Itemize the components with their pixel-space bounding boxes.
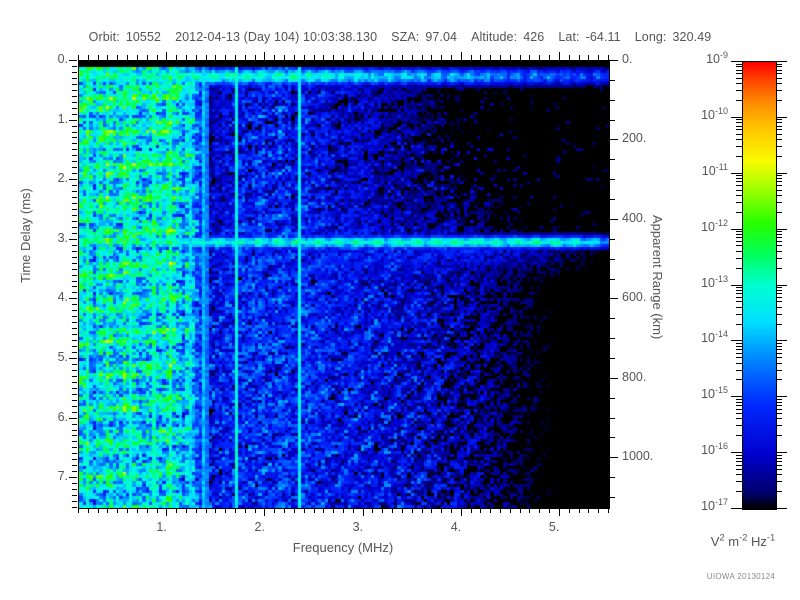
x-tick-minor bbox=[157, 508, 158, 513]
x-tick-minor bbox=[107, 508, 108, 513]
colorbar-tick-minor-left bbox=[736, 293, 742, 294]
x-tick-minor bbox=[608, 508, 609, 513]
y-tick-major-right bbox=[610, 60, 618, 61]
colorbar-tick-minor-left bbox=[736, 64, 742, 65]
y-tick-minor-left bbox=[72, 459, 77, 460]
x-tick-minor-top bbox=[500, 55, 501, 60]
y-tick-minor-right bbox=[610, 418, 615, 419]
y-tick-minor-left bbox=[72, 322, 77, 323]
y-tick-label-right: 200. bbox=[622, 131, 646, 145]
x-tick-minor-top bbox=[304, 55, 305, 60]
y-tick-minor-left bbox=[72, 489, 77, 490]
y-tick-minor-right bbox=[610, 239, 615, 240]
y-tick-major-right bbox=[610, 219, 618, 220]
x-tick-minor-top bbox=[372, 55, 373, 60]
x-tick-minor bbox=[98, 508, 99, 513]
colorbar-tick-minor-left bbox=[736, 455, 742, 456]
y-tick-minor-left bbox=[72, 209, 77, 210]
colorbar-tick-minor-right bbox=[776, 231, 782, 232]
colorbar-tick-label: 10-10 bbox=[680, 108, 728, 122]
colorbar-tick-minor-right bbox=[776, 324, 782, 325]
colorbar-tick-label: 10-12 bbox=[680, 220, 728, 234]
x-tick-minor-top bbox=[441, 55, 442, 60]
colorbar-tick-minor-left bbox=[736, 314, 742, 315]
y-tick-minor-left bbox=[72, 292, 77, 293]
x-tick-major-top bbox=[461, 52, 462, 60]
colorbar-tick-minor-right bbox=[776, 405, 782, 406]
x-tick-minor bbox=[78, 508, 79, 513]
x-tick-minor bbox=[510, 508, 511, 513]
colorbar-tick-minor-left bbox=[736, 212, 742, 213]
y-tick-minor-left bbox=[72, 495, 77, 496]
x-tick-minor-top bbox=[510, 55, 511, 60]
colorbar-tick-minor-left bbox=[736, 237, 742, 238]
x-tick-minor-top bbox=[422, 55, 423, 60]
y-tick-minor-right bbox=[610, 279, 615, 280]
colorbar-tick-major-left bbox=[731, 285, 742, 286]
y-tick-major-left bbox=[69, 239, 77, 240]
y-tick-major-left bbox=[69, 60, 77, 61]
x-tick-minor bbox=[539, 508, 540, 513]
y-tick-minor-right bbox=[610, 259, 615, 260]
colorbar-gradient bbox=[743, 62, 776, 509]
colorbar-tick-minor-right bbox=[776, 363, 782, 364]
colorbar-tick-label: 10-9 bbox=[680, 52, 728, 66]
y-tick-major-left bbox=[69, 298, 77, 299]
colorbar-tick-minor-left bbox=[736, 190, 742, 191]
x-tick-minor bbox=[333, 508, 334, 513]
colorbar-tick-major-right bbox=[776, 61, 787, 62]
y-tick-minor-left bbox=[72, 406, 77, 407]
x-tick-major bbox=[461, 508, 462, 516]
y-tick-minor-left bbox=[72, 227, 77, 228]
colorbar-tick-minor-right bbox=[776, 258, 782, 259]
lat-label: Lat: bbox=[558, 30, 579, 44]
y-tick-minor-left bbox=[72, 328, 77, 329]
x-tick-minor-top bbox=[196, 55, 197, 60]
x-tick-minor-top bbox=[392, 55, 393, 60]
colorbar-tick-minor-right bbox=[776, 353, 782, 354]
y-tick-minor-left bbox=[72, 471, 77, 472]
x-tick-minor-top bbox=[78, 55, 79, 60]
y-tick-minor-left bbox=[72, 132, 77, 133]
ionogram-plot-area bbox=[78, 60, 610, 509]
altitude-label: Altitude: bbox=[471, 30, 517, 44]
colorbar-tick-minor-left bbox=[736, 70, 742, 71]
colorbar-tick-minor-right bbox=[776, 481, 782, 482]
colorbar-tick-minor-left bbox=[736, 73, 742, 74]
y-tick-minor-left bbox=[72, 465, 77, 466]
colorbar-tick-minor-right bbox=[776, 418, 782, 419]
credit-label: UIOWA 20130124 bbox=[686, 572, 796, 581]
colorbar-tick-minor-right bbox=[776, 301, 782, 302]
y-tick-minor-left bbox=[72, 424, 77, 425]
x-tick-minor-top bbox=[382, 55, 383, 60]
colorbar-tick-minor-left bbox=[736, 185, 742, 186]
colorbar-tick-minor-right bbox=[776, 357, 782, 358]
colorbar-tick-major-left bbox=[731, 229, 742, 230]
colorbar-unit-label: V2 m-2 Hz-1 bbox=[686, 534, 800, 549]
y-tick-minor-left bbox=[72, 388, 77, 389]
x-tick-minor bbox=[215, 508, 216, 513]
y-tick-minor-left bbox=[72, 137, 77, 138]
y-tick-minor-right bbox=[610, 477, 615, 478]
colorbar-tick-minor-right bbox=[776, 314, 782, 315]
y-tick-minor-left bbox=[72, 483, 77, 484]
x-tick-minor-top bbox=[480, 55, 481, 60]
y-tick-minor-left bbox=[72, 501, 77, 502]
x-tick-minor bbox=[529, 508, 530, 513]
y-tick-minor-left bbox=[72, 304, 77, 305]
y-tick-minor-left bbox=[72, 167, 77, 168]
colorbar-tick-minor-left bbox=[736, 402, 742, 403]
sza-value: 97.04 bbox=[425, 30, 457, 44]
x-tick-minor-top bbox=[539, 55, 540, 60]
x-tick-minor bbox=[490, 508, 491, 513]
x-tick-minor bbox=[274, 508, 275, 513]
orbit-label: Orbit: bbox=[89, 30, 120, 44]
colorbar-tick-minor-left bbox=[736, 129, 742, 130]
x-tick-minor bbox=[323, 508, 324, 513]
colorbar-tick-minor-left bbox=[736, 469, 742, 470]
colorbar-tick-minor-left bbox=[736, 363, 742, 364]
x-tick-minor bbox=[225, 508, 226, 513]
colorbar-tick-minor-left bbox=[736, 202, 742, 203]
colorbar-tick-major-left bbox=[731, 117, 742, 118]
x-tick-major-top bbox=[363, 52, 364, 60]
colorbar-tick-minor-right bbox=[776, 474, 782, 475]
y-tick-minor-left bbox=[72, 126, 77, 127]
x-tick-label: 2. bbox=[254, 520, 264, 534]
colorbar-tick-minor-right bbox=[776, 139, 782, 140]
colorbar-tick-label: 10-15 bbox=[680, 387, 728, 401]
colorbar-tick-minor-right bbox=[776, 129, 782, 130]
x-tick-minor-top bbox=[235, 55, 236, 60]
colorbar-tick-minor-left bbox=[736, 349, 742, 350]
x-tick-minor-top bbox=[88, 55, 89, 60]
colorbar-tick-minor-right bbox=[776, 343, 782, 344]
colorbar-tick-minor-left bbox=[736, 90, 742, 91]
colorbar-tick-minor-left bbox=[736, 399, 742, 400]
colorbar-tick-minor-right bbox=[776, 268, 782, 269]
colorbar-tick-label: 10-14 bbox=[680, 331, 728, 345]
y-tick-major-right bbox=[610, 457, 618, 458]
y-tick-minor-left bbox=[72, 90, 77, 91]
x-tick-label: 5. bbox=[549, 520, 559, 534]
spectrogram-heatmap bbox=[79, 61, 609, 508]
colorbar-tick-minor-left bbox=[736, 251, 742, 252]
colorbar-tick-minor-left bbox=[736, 458, 742, 459]
y-tick-minor-left bbox=[72, 72, 77, 73]
x-tick-minor-top bbox=[127, 55, 128, 60]
x-tick-minor-top bbox=[579, 55, 580, 60]
colorbar-tick-minor-left bbox=[736, 357, 742, 358]
x-tick-minor-top bbox=[314, 55, 315, 60]
colorbar-tick-minor-left bbox=[736, 178, 742, 179]
colorbar-tick-label: 10-16 bbox=[680, 443, 728, 457]
y-tick-minor-left bbox=[72, 197, 77, 198]
y-tick-minor-left bbox=[72, 334, 77, 335]
colorbar-tick-minor-right bbox=[776, 185, 782, 186]
colorbar-tick-minor-left bbox=[736, 418, 742, 419]
x-tick-minor bbox=[314, 508, 315, 513]
x-tick-minor bbox=[598, 508, 599, 513]
x-tick-minor-top bbox=[274, 55, 275, 60]
colorbar-tick-minor-left bbox=[736, 461, 742, 462]
colorbar-tick-minor-left bbox=[736, 126, 742, 127]
x-tick-minor-top bbox=[176, 55, 177, 60]
y-tick-minor-right bbox=[610, 159, 615, 160]
colorbar-tick-minor-left bbox=[736, 287, 742, 288]
y-tick-minor-left bbox=[72, 245, 77, 246]
colorbar-tick-minor-right bbox=[776, 202, 782, 203]
y-tick-label-left: 7. bbox=[36, 469, 68, 483]
header-info-line: Orbit: 10552 2012-04-13 (Day 104) 10:03:… bbox=[0, 30, 800, 44]
x-tick-minor bbox=[471, 508, 472, 513]
x-tick-minor bbox=[245, 508, 246, 513]
y-tick-minor-left bbox=[72, 251, 77, 252]
y-tick-label-right: 1000. bbox=[622, 449, 653, 463]
colorbar-tick-major-left bbox=[731, 452, 742, 453]
colorbar-tick-minor-right bbox=[776, 146, 782, 147]
altitude-value: 426 bbox=[523, 30, 544, 44]
y-tick-label-right: 0. bbox=[622, 52, 632, 66]
x-tick-minor-top bbox=[343, 55, 344, 60]
colorbar-tick-minor-right bbox=[776, 64, 782, 65]
colorbar-tick-minor-right bbox=[776, 287, 782, 288]
x-tick-minor bbox=[117, 508, 118, 513]
colorbar-tick-minor-left bbox=[736, 413, 742, 414]
y-tick-minor-left bbox=[72, 453, 77, 454]
y-tick-minor-right bbox=[610, 80, 615, 81]
long-value: 320.49 bbox=[673, 30, 712, 44]
colorbar-tick-minor-right bbox=[776, 190, 782, 191]
x-tick-minor bbox=[431, 508, 432, 513]
x-tick-minor-top bbox=[323, 55, 324, 60]
y-tick-minor-left bbox=[72, 96, 77, 97]
colorbar-tick-minor-right bbox=[776, 297, 782, 298]
y-tick-minor-left bbox=[72, 441, 77, 442]
colorbar-tick-minor-right bbox=[776, 195, 782, 196]
colorbar-tick-minor-right bbox=[776, 212, 782, 213]
y-tick-label-left: 0. bbox=[36, 52, 68, 66]
colorbar-tick-minor-left bbox=[736, 119, 742, 120]
colorbar-tick-minor-right bbox=[776, 78, 782, 79]
y-tick-minor-left bbox=[72, 430, 77, 431]
x-tick-minor bbox=[480, 508, 481, 513]
x-tick-major bbox=[363, 508, 364, 516]
colorbar-tick-minor-right bbox=[776, 119, 782, 120]
x-tick-label: 3. bbox=[353, 520, 363, 534]
x-tick-minor-top bbox=[107, 55, 108, 60]
colorbar-tick-minor-right bbox=[776, 234, 782, 235]
colorbar-tick-minor-right bbox=[776, 70, 782, 71]
x-tick-minor-top bbox=[412, 55, 413, 60]
colorbar-tick-minor-right bbox=[776, 491, 782, 492]
colorbar-tick-minor-right bbox=[776, 181, 782, 182]
colorbar-tick-minor-right bbox=[776, 379, 782, 380]
x-tick-minor bbox=[500, 508, 501, 513]
colorbar-tick-minor-left bbox=[736, 181, 742, 182]
x-tick-minor-top bbox=[98, 55, 99, 60]
y-tick-minor-left bbox=[72, 114, 77, 115]
x-tick-major-top bbox=[264, 52, 265, 60]
x-tick-minor bbox=[255, 508, 256, 513]
colorbar-tick-minor-left bbox=[736, 353, 742, 354]
y-tick-minor-left bbox=[72, 376, 77, 377]
colorbar-tick-label: 10-11 bbox=[680, 164, 728, 178]
colorbar-tick-minor-right bbox=[776, 134, 782, 135]
x-tick-minor-top bbox=[117, 55, 118, 60]
colorbar-tick-minor-left bbox=[736, 156, 742, 157]
colorbar-tick-label: 10-17 bbox=[680, 499, 728, 513]
x-tick-major bbox=[559, 508, 560, 516]
colorbar-tick-minor-right bbox=[776, 175, 782, 176]
y-tick-minor-left bbox=[72, 185, 77, 186]
observation-datetime: 2012-04-13 (Day 104) 10:03:38.130 bbox=[175, 30, 377, 44]
colorbar-tick-minor-right bbox=[776, 156, 782, 157]
x-tick-minor bbox=[284, 508, 285, 513]
y-tick-minor-left bbox=[72, 215, 77, 216]
x-tick-minor bbox=[392, 508, 393, 513]
colorbar-tick-minor-right bbox=[776, 461, 782, 462]
y-tick-minor-left bbox=[72, 102, 77, 103]
colorbar-tick-minor-right bbox=[776, 100, 782, 101]
colorbar-tick-minor-right bbox=[776, 425, 782, 426]
y-tick-minor-left bbox=[72, 316, 77, 317]
y-tick-major-left bbox=[69, 120, 77, 121]
y-tick-minor-left bbox=[72, 161, 77, 162]
y-tick-minor-right bbox=[610, 338, 615, 339]
x-tick-minor bbox=[186, 508, 187, 513]
colorbar-tick-minor-left bbox=[736, 343, 742, 344]
y-tick-minor-left bbox=[72, 78, 77, 79]
y-tick-minor-left bbox=[72, 275, 77, 276]
colorbar-tick-major-right bbox=[776, 340, 787, 341]
y-tick-minor-right bbox=[610, 437, 615, 438]
x-tick-minor bbox=[176, 508, 177, 513]
colorbar-tick-major-right bbox=[776, 285, 787, 286]
sza-label: SZA: bbox=[391, 30, 419, 44]
colorbar-tick-minor-left bbox=[736, 474, 742, 475]
y-tick-minor-right bbox=[610, 398, 615, 399]
colorbar-tick-minor-left bbox=[736, 290, 742, 291]
colorbar-tick-minor-right bbox=[776, 178, 782, 179]
y-tick-major-left bbox=[69, 477, 77, 478]
colorbar-tick-minor-left bbox=[736, 258, 742, 259]
y-tick-minor-left bbox=[72, 364, 77, 365]
y-tick-label-left: 2. bbox=[36, 171, 68, 185]
y-tick-minor-left bbox=[72, 412, 77, 413]
y-tick-minor-left bbox=[72, 149, 77, 150]
colorbar-tick-minor-right bbox=[776, 90, 782, 91]
y-tick-minor-left bbox=[72, 394, 77, 395]
y-tick-minor-left bbox=[72, 382, 77, 383]
colorbar-tick-minor-left bbox=[736, 100, 742, 101]
x-tick-minor-top bbox=[333, 55, 334, 60]
x-tick-minor bbox=[88, 508, 89, 513]
colorbar-tick-minor-right bbox=[776, 73, 782, 74]
x-tick-minor bbox=[588, 508, 589, 513]
y-tick-major-left bbox=[69, 418, 77, 419]
y-tick-label-right: 800. bbox=[622, 370, 646, 384]
colorbar-tick-minor-left bbox=[736, 134, 742, 135]
colorbar-tick-minor-left bbox=[736, 307, 742, 308]
y-tick-label-right: 400. bbox=[622, 211, 646, 225]
colorbar-tick-minor-right bbox=[776, 435, 782, 436]
y-tick-minor-left bbox=[72, 507, 77, 508]
colorbar-tick-minor-right bbox=[776, 370, 782, 371]
y-tick-minor-left bbox=[72, 286, 77, 287]
y-tick-minor-left bbox=[72, 203, 77, 204]
x-tick-minor-top bbox=[588, 55, 589, 60]
colorbar-tick-minor-right bbox=[776, 469, 782, 470]
colorbar-tick-minor-left bbox=[736, 346, 742, 347]
x-tick-label: 1. bbox=[156, 520, 166, 534]
colorbar-tick-major-left bbox=[731, 173, 742, 174]
colorbar-tick-minor-left bbox=[736, 465, 742, 466]
y-tick-minor-left bbox=[72, 447, 77, 448]
x-tick-minor-top bbox=[520, 55, 521, 60]
colorbar-tick-minor-left bbox=[736, 379, 742, 380]
x-tick-minor-top bbox=[353, 55, 354, 60]
x-tick-minor-top bbox=[471, 55, 472, 60]
x-tick-minor-top bbox=[225, 55, 226, 60]
colorbar-tick-major-right bbox=[776, 117, 787, 118]
colorbar-tick-minor-right bbox=[776, 399, 782, 400]
x-tick-minor bbox=[235, 508, 236, 513]
y-tick-minor-left bbox=[72, 269, 77, 270]
y-tick-major-right bbox=[610, 139, 618, 140]
x-tick-minor-top bbox=[294, 55, 295, 60]
y-tick-minor-left bbox=[72, 143, 77, 144]
colorbar-tick-major-right bbox=[776, 396, 787, 397]
x-axis-title: Frequency (MHz) bbox=[0, 540, 686, 555]
y-axis-title-left: Time Delay (ms) bbox=[18, 188, 33, 283]
x-tick-minor-top bbox=[206, 55, 207, 60]
x-tick-label: 4. bbox=[451, 520, 461, 534]
colorbar-tick-minor-left bbox=[736, 175, 742, 176]
long-label: Long: bbox=[635, 30, 667, 44]
y-tick-minor-right bbox=[610, 497, 615, 498]
colorbar-tick-minor-right bbox=[776, 402, 782, 403]
y-tick-minor-left bbox=[72, 108, 77, 109]
colorbar-tick-minor-left bbox=[736, 245, 742, 246]
colorbar-tick-minor-left bbox=[736, 425, 742, 426]
colorbar-tick-minor-right bbox=[776, 307, 782, 308]
x-tick-minor-top bbox=[569, 55, 570, 60]
x-tick-minor bbox=[127, 508, 128, 513]
x-tick-minor-top bbox=[451, 55, 452, 60]
colorbar-tick-minor-right bbox=[776, 409, 782, 410]
x-tick-minor bbox=[402, 508, 403, 513]
y-tick-minor-right bbox=[610, 120, 615, 121]
colorbar-tick-major-right bbox=[776, 229, 787, 230]
x-tick-minor bbox=[441, 508, 442, 513]
colorbar-tick-minor-left bbox=[736, 435, 742, 436]
orbit-value: 10552 bbox=[126, 30, 161, 44]
y-tick-label-left: 3. bbox=[36, 231, 68, 245]
x-tick-minor-top bbox=[157, 55, 158, 60]
y-tick-minor-right bbox=[610, 179, 615, 180]
colorbar-tick-minor-right bbox=[776, 83, 782, 84]
y-tick-minor-left bbox=[72, 155, 77, 156]
y-tick-minor-left bbox=[72, 352, 77, 353]
y-tick-minor-left bbox=[72, 340, 77, 341]
colorbar-tick-minor-right bbox=[776, 455, 782, 456]
x-tick-minor bbox=[206, 508, 207, 513]
x-tick-minor-top bbox=[598, 55, 599, 60]
